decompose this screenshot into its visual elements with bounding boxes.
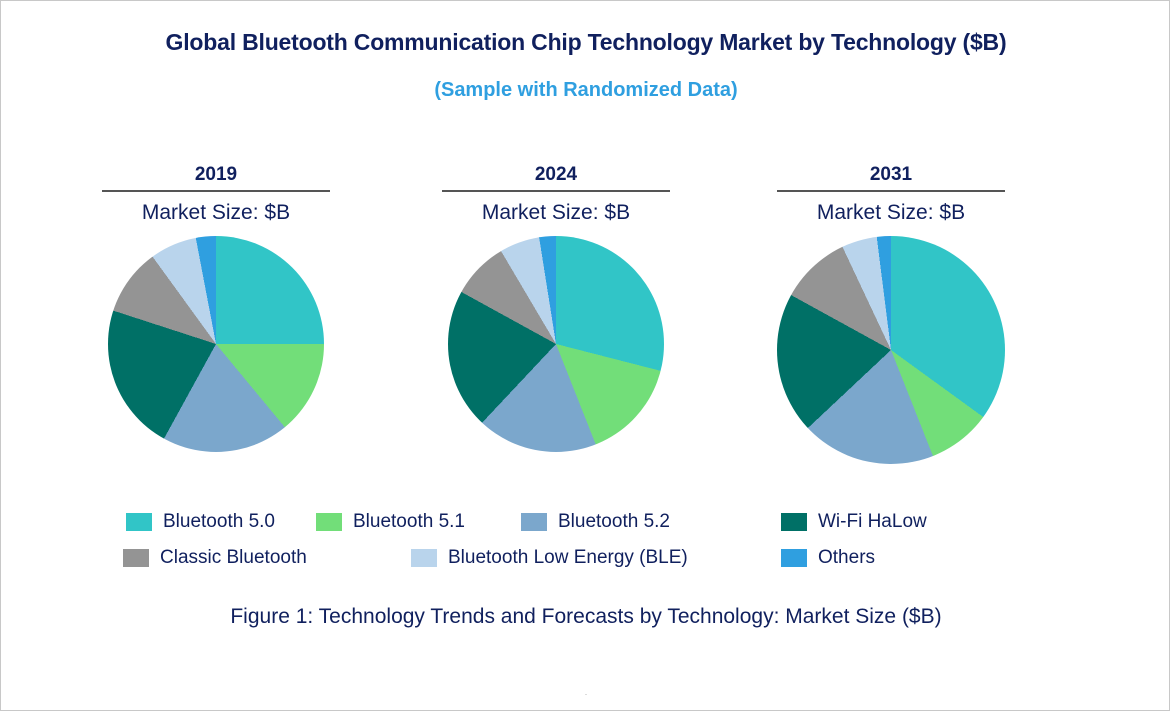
panel-divider xyxy=(442,190,670,192)
panel-year-label: 2031 xyxy=(726,161,1056,187)
legend-item-bluetooth-5-2: Bluetooth 5.2 xyxy=(521,509,670,535)
pie-wrap-2031 xyxy=(726,236,1056,466)
legend-item-bluetooth-5-0: Bluetooth 5.0 xyxy=(126,509,275,535)
figure-caption: Figure 1: Technology Trends and Forecast… xyxy=(1,605,1170,629)
panel-measure-label: Market Size: $B xyxy=(726,200,1056,226)
pie-wrap-2019 xyxy=(51,236,381,466)
chart-legend: Bluetooth 5.0 Bluetooth 5.1 Bluetooth 5.… xyxy=(1,501,1170,581)
legend-label: Wi-Fi HaLow xyxy=(818,511,927,533)
figure-frame: Global Bluetooth Communication Chip Tech… xyxy=(0,0,1170,711)
legend-swatch-icon xyxy=(781,513,807,531)
legend-item-bluetooth-low-energy: Bluetooth Low Energy (BLE) xyxy=(411,545,688,571)
panel-year-label: 2019 xyxy=(51,161,381,187)
legend-label: Bluetooth 5.0 xyxy=(163,511,275,533)
legend-swatch-icon xyxy=(316,513,342,531)
panel-measure-label: Market Size: $B xyxy=(51,200,381,226)
pie-panels: 2019 Market Size: $B 2024 Market Size: $… xyxy=(1,161,1170,491)
panel-divider xyxy=(777,190,1005,192)
pie-wrap-2024 xyxy=(391,236,721,466)
legend-swatch-icon xyxy=(781,549,807,567)
pie-chart-2019 xyxy=(108,236,324,452)
legend-label: Bluetooth Low Energy (BLE) xyxy=(448,547,688,569)
pie-panel-2024: 2024 Market Size: $B xyxy=(391,161,721,491)
panel-measure-label: Market Size: $B xyxy=(391,200,721,226)
pie-panel-2031: 2031 Market Size: $B xyxy=(726,161,1056,491)
legend-swatch-icon xyxy=(126,513,152,531)
legend-swatch-icon xyxy=(123,549,149,567)
panel-year-label: 2024 xyxy=(391,161,721,187)
chart-subtitle: (Sample with Randomized Data) xyxy=(1,79,1170,102)
legend-item-wifi-halow: Wi-Fi HaLow xyxy=(781,509,927,535)
legend-label: Bluetooth 5.2 xyxy=(558,511,670,533)
legend-swatch-icon xyxy=(411,549,437,567)
pie-chart-2024 xyxy=(448,236,664,452)
legend-label: Others xyxy=(818,547,875,569)
legend-item-others: Others xyxy=(781,545,875,571)
pie-panel-2019: 2019 Market Size: $B xyxy=(51,161,381,491)
pie-chart-2031 xyxy=(777,236,1005,464)
chart-title: Global Bluetooth Communication Chip Tech… xyxy=(1,29,1170,56)
footer-mark: . xyxy=(1,687,1170,697)
legend-label: Classic Bluetooth xyxy=(160,547,307,569)
legend-item-classic-bluetooth: Classic Bluetooth xyxy=(123,545,307,571)
legend-swatch-icon xyxy=(521,513,547,531)
legend-item-bluetooth-5-1: Bluetooth 5.1 xyxy=(316,509,465,535)
legend-label: Bluetooth 5.1 xyxy=(353,511,465,533)
panel-divider xyxy=(102,190,330,192)
